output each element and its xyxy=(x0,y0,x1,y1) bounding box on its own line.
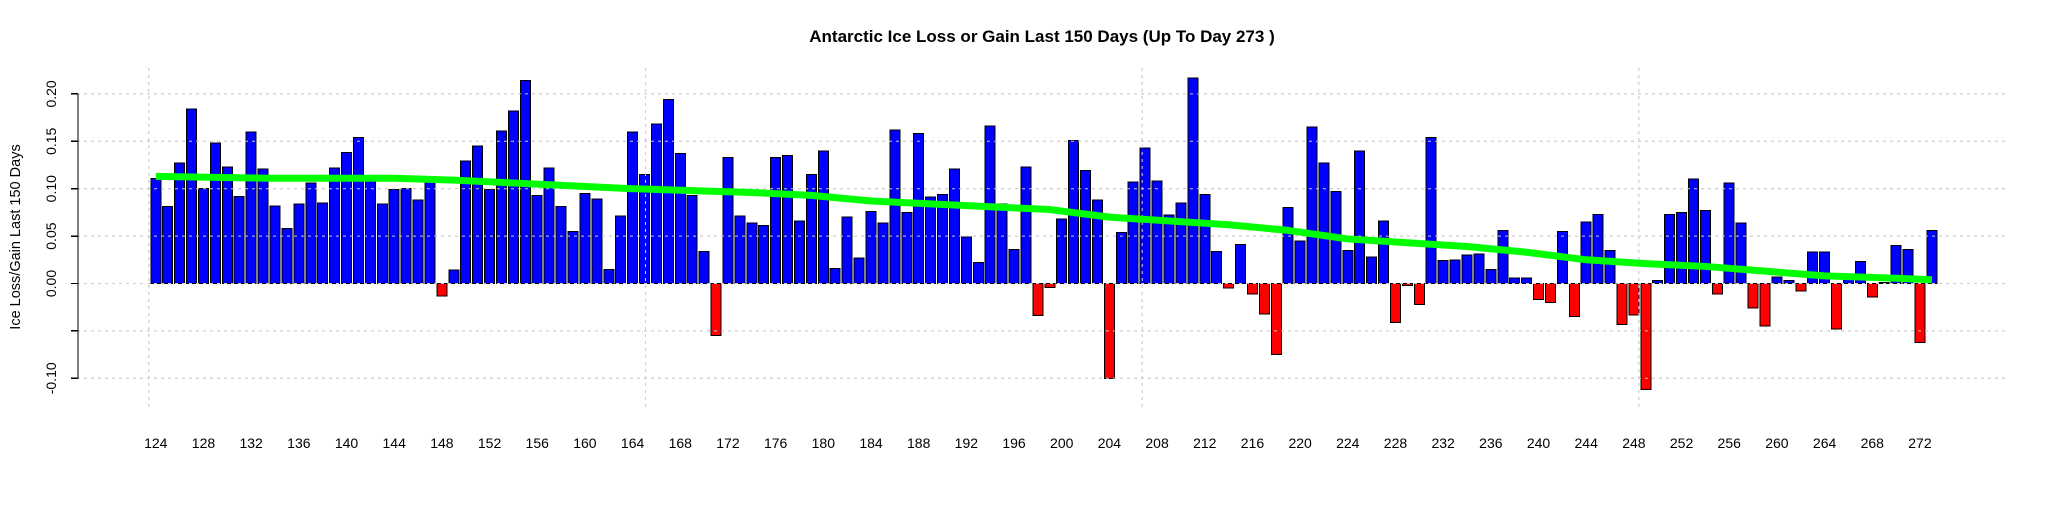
bar xyxy=(1379,221,1389,284)
bar xyxy=(1283,208,1293,284)
bar xyxy=(961,237,971,283)
bar xyxy=(878,223,888,284)
bar xyxy=(1319,163,1329,283)
bar xyxy=(1414,284,1424,305)
bar xyxy=(651,124,661,283)
bar xyxy=(449,270,459,283)
x-axis-tick-label: 240 xyxy=(1527,435,1551,451)
y-axis-tick-label: 0.10 xyxy=(43,175,59,202)
bar xyxy=(675,154,685,284)
bar xyxy=(830,268,840,283)
x-axis-tick-label: 128 xyxy=(192,435,216,451)
bar xyxy=(163,207,173,284)
bar xyxy=(806,174,816,283)
bar xyxy=(234,196,244,283)
bar xyxy=(508,111,518,284)
bar xyxy=(1486,269,1496,283)
x-axis-tick-label: 224 xyxy=(1336,435,1360,451)
x-axis-tick-label: 244 xyxy=(1575,435,1599,451)
bar xyxy=(1390,284,1400,323)
bar xyxy=(711,284,721,336)
bar xyxy=(949,169,959,284)
chart-page: 0.200.150.100.050.00-0.10 12412813213614… xyxy=(0,0,2048,511)
bar xyxy=(1247,284,1257,294)
bar xyxy=(1617,284,1627,325)
bar xyxy=(1450,260,1460,284)
bar xyxy=(1033,284,1043,316)
bar xyxy=(842,217,852,283)
bar xyxy=(377,204,387,284)
bar xyxy=(246,132,256,284)
bar xyxy=(1772,277,1782,284)
bar xyxy=(1009,249,1019,283)
bar xyxy=(1307,127,1317,283)
bar xyxy=(1832,284,1842,330)
bar xyxy=(818,151,828,284)
bar xyxy=(604,269,614,283)
bar xyxy=(1188,78,1198,284)
bar xyxy=(318,203,328,284)
bar xyxy=(1057,219,1067,283)
bar xyxy=(973,263,983,284)
bar xyxy=(580,193,590,283)
bar xyxy=(1212,251,1222,283)
x-axis-tick-label: 140 xyxy=(335,435,359,451)
y-axis-tick-label: -0.10 xyxy=(43,362,59,394)
bar xyxy=(425,177,435,283)
x-axis-tick-label: 136 xyxy=(287,435,311,451)
bar xyxy=(1700,211,1710,284)
x-axis-tick-label: 164 xyxy=(621,435,645,451)
bar xyxy=(1116,232,1126,283)
bar xyxy=(342,153,352,284)
bar xyxy=(687,195,697,283)
bar xyxy=(1581,222,1591,284)
bar xyxy=(1736,223,1746,284)
bar xyxy=(1176,203,1186,284)
bar xyxy=(1605,250,1615,283)
bar xyxy=(1593,214,1603,283)
x-axis-tick-label: 192 xyxy=(955,435,979,451)
bar xyxy=(794,221,804,284)
y-axis-tick-label: 0.00 xyxy=(43,270,59,297)
bar xyxy=(556,207,566,284)
bar xyxy=(866,211,876,283)
bar xyxy=(330,168,340,284)
x-axis-tick-label: 220 xyxy=(1288,435,1312,451)
bar xyxy=(473,146,483,283)
bar xyxy=(1545,284,1555,303)
bar xyxy=(997,204,1007,284)
bar xyxy=(187,109,197,283)
x-axis-tick-label: 260 xyxy=(1765,435,1789,451)
chart-title: Antarctic Ice Loss or Gain Last 150 Days… xyxy=(809,27,1274,46)
y-axis-tick-label: 0.15 xyxy=(43,127,59,154)
bar xyxy=(592,199,602,283)
x-axis-tick-label: 228 xyxy=(1384,435,1408,451)
bar xyxy=(1796,284,1806,292)
bar xyxy=(1641,284,1651,390)
bar xyxy=(1665,214,1675,283)
x-axis-tick-label: 200 xyxy=(1050,435,1074,451)
bar xyxy=(1045,284,1055,288)
x-axis-tick-label: 256 xyxy=(1718,435,1742,451)
bar xyxy=(365,176,375,283)
bar xyxy=(783,156,793,284)
x-axis-tick-label: 216 xyxy=(1241,435,1265,451)
x-axis-tick-label: 212 xyxy=(1193,435,1217,451)
x-axis-tick-label: 252 xyxy=(1670,435,1694,451)
x-axis-tick-label: 172 xyxy=(716,435,740,451)
bar xyxy=(532,195,542,283)
bar xyxy=(222,167,232,284)
bar xyxy=(1915,284,1925,343)
bar xyxy=(628,132,638,284)
x-axis-tick-label: 160 xyxy=(573,435,597,451)
bar xyxy=(1236,245,1246,284)
bar xyxy=(1081,171,1091,284)
x-axis-tick-label: 208 xyxy=(1145,435,1169,451)
x-axis-tick-label: 156 xyxy=(526,435,550,451)
bar xyxy=(270,206,280,284)
x-axis-tick-label: 148 xyxy=(430,435,454,451)
bar xyxy=(1510,278,1520,284)
antarctic-ice-bar-chart: 0.200.150.100.050.00-0.10 12412813213614… xyxy=(0,0,2048,511)
bar xyxy=(1021,167,1031,284)
x-axis-tick-label: 188 xyxy=(907,435,931,451)
bar xyxy=(1629,284,1639,315)
bar xyxy=(413,200,423,283)
x-axis-tick-label: 272 xyxy=(1908,435,1932,451)
bar xyxy=(854,258,864,284)
y-axis-tick-label: 0.20 xyxy=(43,80,59,107)
bar xyxy=(1677,212,1687,283)
bar xyxy=(1164,215,1174,283)
bar xyxy=(771,157,781,283)
x-axis-tick-label: 180 xyxy=(812,435,836,451)
x-axis-tick-label: 184 xyxy=(859,435,883,451)
x-axis-tick-label: 232 xyxy=(1431,435,1455,451)
x-axis-tick-label: 248 xyxy=(1622,435,1646,451)
bar xyxy=(1462,255,1472,283)
bar xyxy=(1760,284,1770,327)
bar xyxy=(723,157,733,283)
bar xyxy=(210,143,220,283)
bar xyxy=(1271,284,1281,355)
bar xyxy=(353,138,363,284)
bar xyxy=(890,130,900,284)
x-axis-tick-label: 124 xyxy=(144,435,168,451)
bar xyxy=(1808,252,1818,283)
x-axis-tick-label: 204 xyxy=(1098,435,1122,451)
bar xyxy=(902,212,912,283)
x-axis-tick-label: 132 xyxy=(239,435,263,451)
x-axis-tick-label: 176 xyxy=(764,435,788,451)
bar xyxy=(1104,284,1114,379)
x-axis-tick-label: 264 xyxy=(1813,435,1837,451)
bar xyxy=(1438,261,1448,284)
bar xyxy=(1152,181,1162,283)
bar xyxy=(437,284,447,296)
bar xyxy=(258,169,268,284)
bar xyxy=(699,251,709,283)
bar xyxy=(1522,278,1532,284)
bar xyxy=(1355,151,1365,284)
bar xyxy=(1474,254,1484,283)
bar xyxy=(1367,257,1377,284)
bar xyxy=(1128,182,1138,283)
bar xyxy=(1867,284,1877,297)
bar xyxy=(151,178,161,283)
bar xyxy=(1534,284,1544,300)
bar xyxy=(1569,284,1579,317)
bar xyxy=(1224,284,1234,289)
x-axis-tick-label: 268 xyxy=(1861,435,1885,451)
bar xyxy=(175,163,185,283)
bar xyxy=(294,204,304,284)
bar xyxy=(914,134,924,284)
bar xyxy=(616,216,626,283)
bar xyxy=(1927,230,1937,283)
bar xyxy=(759,226,769,284)
bar xyxy=(1712,284,1722,294)
bar xyxy=(568,231,578,283)
bar xyxy=(1498,230,1508,283)
bar xyxy=(1748,284,1758,309)
x-axis-tick-label: 236 xyxy=(1479,435,1503,451)
bar xyxy=(1295,241,1305,284)
y-axis-tick-label: 0.05 xyxy=(43,222,59,249)
bar xyxy=(1426,138,1436,284)
bar xyxy=(282,229,292,284)
bar xyxy=(1200,194,1210,283)
bar xyxy=(735,216,745,283)
x-axis-tick-label: 168 xyxy=(669,435,693,451)
bar xyxy=(485,190,495,284)
bar xyxy=(496,131,506,284)
x-axis-tick-label: 196 xyxy=(1002,435,1026,451)
x-axis-tick-label: 144 xyxy=(383,435,407,451)
bar xyxy=(926,197,936,283)
y-axis-title: Ice Loss/Gain Last 150 Days xyxy=(8,144,24,329)
bar xyxy=(1259,284,1269,314)
bar xyxy=(1343,250,1353,283)
bar xyxy=(306,183,316,283)
x-axis-tick-label: 152 xyxy=(478,435,502,451)
bar xyxy=(747,223,757,284)
